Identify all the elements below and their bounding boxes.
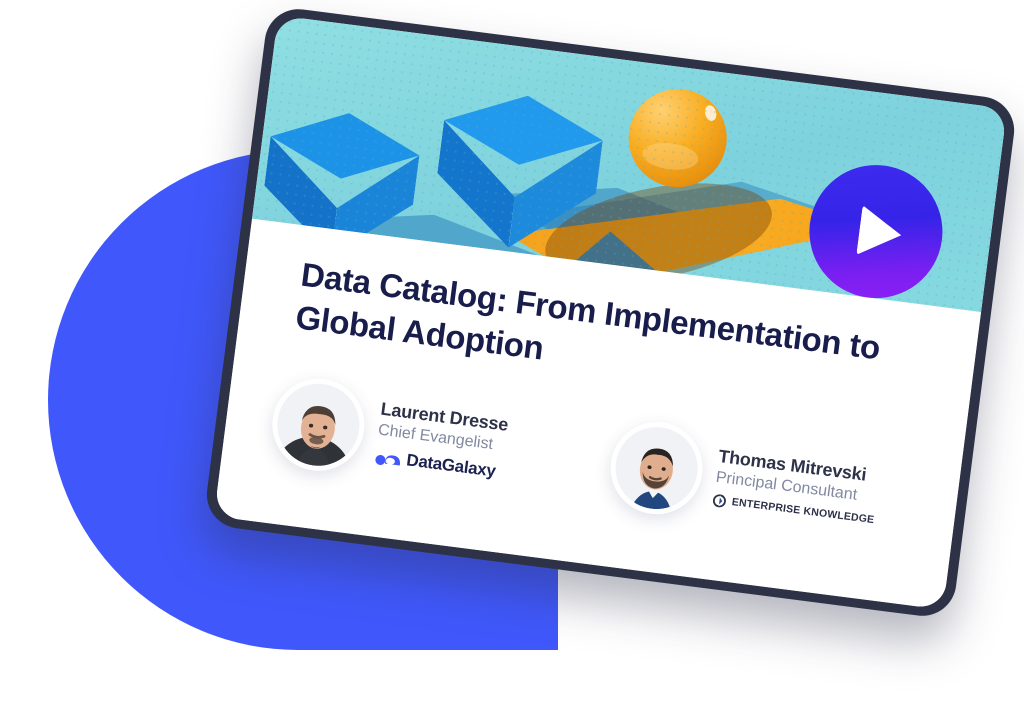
cube-left-face	[429, 120, 523, 247]
cube-top-face	[261, 104, 424, 232]
speaker-info: Laurent Dresse Chief Evangelist DataGala…	[374, 399, 510, 483]
speaker-info: Thomas Mitrevski Principal Consultant EN…	[712, 445, 881, 526]
video-card[interactable]: Data Catalog: From Implementation to Glo…	[214, 15, 1007, 609]
orange-sphere-shape	[623, 83, 733, 193]
webinar-promo-graphic: Data Catalog: From Implementation to Glo…	[0, 0, 1024, 703]
cube-top-face	[434, 86, 607, 221]
card-surface: Data Catalog: From Implementation to Glo…	[214, 15, 1007, 609]
avatar	[267, 373, 370, 476]
speaker-card: Laurent Dresse Chief Evangelist DataGala…	[267, 373, 595, 505]
company-name-suffix: KNOWLEDGE	[803, 505, 875, 526]
sphere-highlight	[703, 104, 718, 122]
sphere-bounce-light	[641, 140, 700, 173]
cube-right-face	[508, 130, 602, 257]
speaker-card: Thomas Mitrevski Principal Consultant EN…	[605, 417, 933, 549]
play-triangle-icon	[856, 205, 904, 260]
avatar	[605, 417, 708, 520]
company-name-prefix: ENTERPRISE	[731, 496, 801, 517]
datagalaxy-cloud-icon	[374, 448, 402, 468]
enterprise-knowledge-mark-icon	[712, 493, 727, 508]
company-name: DataGalaxy	[405, 450, 496, 481]
